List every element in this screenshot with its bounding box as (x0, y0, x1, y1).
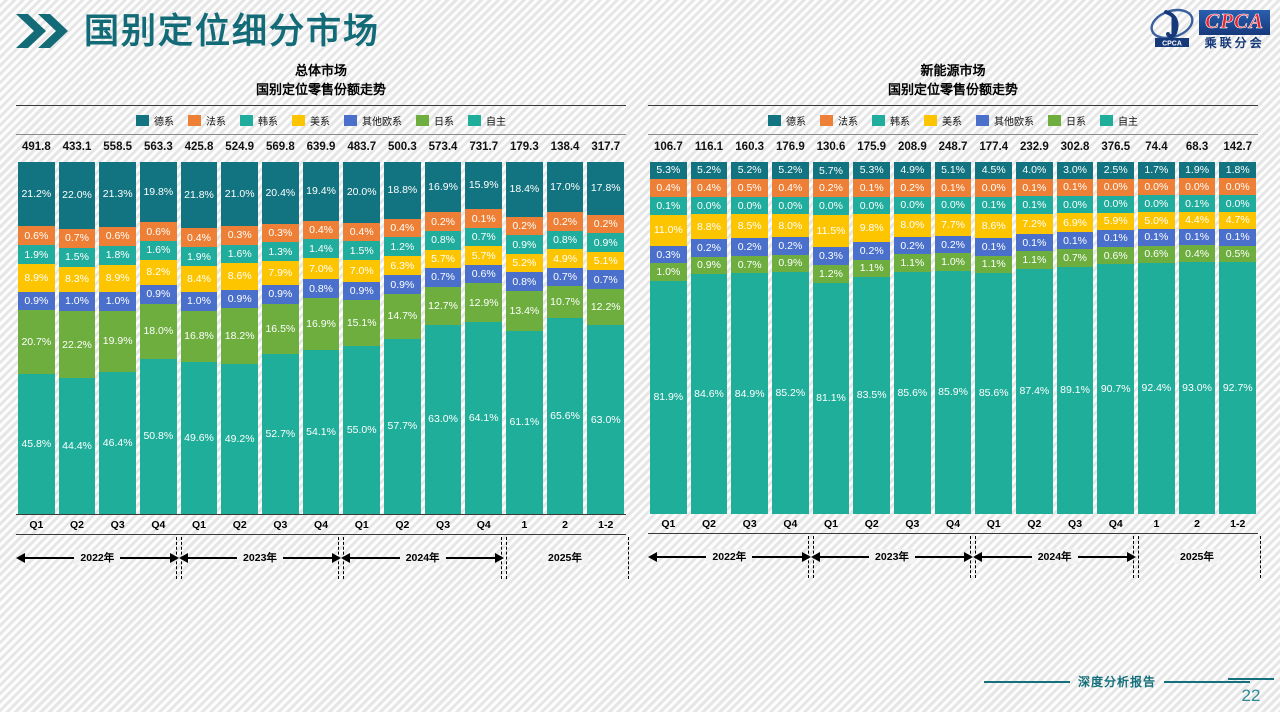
bar-segment[interactable]: 18.4% (506, 162, 543, 217)
bar-column[interactable]: 4.5%0.0%0.1%8.6%0.1%1.1%85.6% (975, 162, 1012, 514)
bar-segment[interactable]: 0.7% (425, 268, 462, 287)
bar-segment[interactable]: 8.9% (99, 265, 136, 292)
bar-segment[interactable]: 0.0% (691, 197, 728, 215)
bar-segment-label: 0.4% (697, 182, 721, 194)
bar-segment[interactable]: 1.0% (181, 292, 218, 311)
bar-segment[interactable]: 0.6% (1097, 247, 1134, 264)
bar-segment-label: 0.1% (1063, 181, 1087, 193)
bar-segment[interactable]: 0.4% (650, 179, 687, 197)
bar-segment[interactable]: 92.7% (1219, 262, 1256, 513)
bar-segment[interactable]: 20.4% (262, 162, 299, 224)
bar-segment[interactable]: 85.2% (772, 272, 809, 513)
bar-segment[interactable]: 49.6% (181, 362, 218, 514)
bar-segment[interactable]: 1.2% (813, 265, 850, 283)
bar-segment[interactable]: 55.0% (343, 346, 380, 513)
bar-column[interactable]: 5.1%0.1%0.0%7.7%0.2%1.0%85.9% (935, 162, 972, 514)
bar-segment[interactable]: 0.1% (935, 179, 972, 197)
bar-segment[interactable]: 4.9% (894, 162, 931, 180)
cpca-swoosh-logo-icon: CPCA (1149, 6, 1195, 53)
bar-segment[interactable]: 0.0% (1057, 196, 1094, 213)
bar-segment[interactable]: 61.1% (506, 331, 543, 514)
bar-segment[interactable]: 7.2% (1016, 214, 1053, 234)
bar-segment[interactable]: 1.0% (59, 292, 96, 311)
bar-segment[interactable]: 5.2% (731, 162, 768, 180)
total-value: 116.1 (689, 141, 730, 153)
legend-item[interactable]: 美系 (292, 113, 330, 128)
bar-column[interactable]: 17.8%0.2%0.9%5.1%0.7%12.2%63.0% (587, 162, 624, 514)
bar-segment[interactable]: 22.0% (59, 162, 96, 229)
bar-segment[interactable]: 4.4% (1179, 212, 1216, 229)
bar-segment[interactable]: 0.0% (1138, 195, 1175, 212)
bar-segment[interactable]: 0.2% (935, 236, 972, 254)
x-axis-label: Q2 (1014, 518, 1055, 530)
bar-segment[interactable]: 0.2% (506, 217, 543, 236)
bar-segment[interactable]: 45.8% (18, 374, 55, 514)
bar-segment-label: 4.4% (1185, 214, 1209, 226)
bar-segment[interactable]: 0.0% (1219, 178, 1256, 195)
legend-item[interactable]: 韩系 (872, 113, 910, 128)
bar-segment[interactable]: 21.3% (99, 162, 136, 227)
bar-segment[interactable]: 0.2% (813, 179, 850, 197)
bar-segment[interactable]: 0.8% (303, 279, 340, 298)
bar-column[interactable]: 4.9%0.2%0.0%8.0%0.2%1.1%85.6% (894, 162, 931, 514)
bar-segment[interactable]: 0.5% (1219, 246, 1256, 263)
bar-segment[interactable]: 1.6% (140, 241, 177, 260)
bar-segment[interactable]: 6.3% (384, 256, 421, 275)
bar-segment-label: 0.8% (309, 283, 333, 295)
legend-item[interactable]: 自主 (468, 113, 506, 128)
bar-segment[interactable]: 18.0% (140, 304, 177, 359)
bar-segment[interactable]: 18.8% (384, 162, 421, 219)
bar-segment[interactable]: 65.6% (547, 318, 584, 514)
x-axis-label: Q1 (341, 519, 382, 531)
legend-item[interactable]: 德系 (768, 113, 806, 128)
arrow-left-icon (811, 552, 820, 562)
bar-segment[interactable]: 0.0% (1097, 196, 1134, 213)
bar-segment[interactable]: 0.9% (506, 235, 543, 254)
bar-segment[interactable]: 0.2% (772, 237, 809, 255)
bar-segment[interactable]: 0.7% (1057, 249, 1094, 266)
bar-segment[interactable]: 0.8% (425, 231, 462, 250)
legend-item[interactable]: 美系 (924, 113, 962, 128)
bar-segment[interactable]: 0.4% (772, 179, 809, 197)
bar-segment[interactable]: 90.7% (1097, 264, 1134, 514)
bar-column[interactable]: 4.0%0.1%0.1%7.2%0.1%1.1%87.4% (1016, 162, 1053, 514)
bar-segment[interactable]: 5.2% (772, 162, 809, 180)
bar-segment[interactable]: 16.9% (303, 298, 340, 349)
bar-segment-label: 1.9% (187, 251, 211, 263)
bar-segment[interactable]: 0.1% (1179, 195, 1216, 212)
bar-segment[interactable]: 2.5% (1097, 162, 1134, 179)
bar-segment[interactable]: 0.7% (547, 268, 584, 286)
bar-segment[interactable]: 85.9% (935, 271, 972, 514)
bar-segment[interactable]: 1.6% (221, 245, 258, 264)
bar-segment-label: 8.0% (900, 219, 924, 231)
bar-segment[interactable]: 0.2% (853, 242, 890, 260)
bar-column[interactable]: 22.0%0.7%1.5%8.3%1.0%22.2%44.4% (59, 162, 96, 514)
bar-segment[interactable]: 19.4% (303, 162, 340, 221)
bar-segment[interactable]: 0.0% (1219, 195, 1256, 212)
bar-segment[interactable]: 13.4% (506, 291, 543, 331)
bar-segment[interactable]: 52.7% (262, 354, 299, 514)
bar-segment[interactable]: 0.7% (587, 270, 624, 289)
bar-segment[interactable]: 0.9% (691, 257, 728, 275)
bar-column[interactable]: 3.0%0.1%0.0%6.9%0.1%0.7%89.1% (1057, 162, 1094, 514)
bar-segment[interactable]: 0.1% (1057, 179, 1094, 196)
bar-segment[interactable]: 0.9% (140, 285, 177, 304)
bar-segment[interactable]: 5.7% (425, 250, 462, 269)
bar-segment[interactable]: 7.0% (303, 258, 340, 279)
bar-segment[interactable]: 0.1% (853, 179, 890, 197)
bar-segment[interactable]: 0.0% (975, 179, 1012, 196)
bar-segment[interactable]: 0.9% (587, 233, 624, 252)
bar-segment[interactable]: 3.0% (1057, 162, 1094, 179)
bar-segment-label: 19.9% (103, 335, 133, 347)
total-value: 569.8 (260, 141, 301, 153)
bar-segment[interactable]: 16.5% (262, 304, 299, 354)
bar-segment[interactable]: 81.9% (650, 281, 687, 514)
bar-column[interactable]: 19.4%0.4%1.4%7.0%0.8%16.9%54.1% (303, 162, 340, 514)
legend-label: 德系 (786, 113, 806, 128)
bar-segment-label: 19.4% (306, 185, 336, 197)
bar-segment[interactable]: 1.8% (1219, 162, 1256, 179)
bar-segment[interactable]: 87.4% (1016, 269, 1053, 514)
bar-segment[interactable]: 0.5% (731, 179, 768, 197)
bar-segment[interactable]: 9.8% (853, 214, 890, 242)
bar-segment[interactable]: 21.8% (181, 162, 218, 229)
bar-segment-label: 1.4% (309, 243, 333, 255)
bar-segment[interactable]: 0.0% (772, 197, 809, 215)
bar-segment[interactable]: 0.9% (384, 275, 421, 294)
bar-segment[interactable]: 0.1% (465, 209, 502, 228)
bar-segment[interactable]: 1.1% (1016, 251, 1053, 268)
legend-item[interactable]: 其他欧系 (976, 113, 1034, 128)
bar-segment-label: 0.4% (778, 182, 802, 194)
bar-segment[interactable]: 63.0% (587, 325, 624, 513)
bar-segment[interactable]: 6.9% (1057, 213, 1094, 232)
bar-column[interactable]: 2.5%0.0%0.0%5.9%0.1%0.6%90.7% (1097, 162, 1134, 514)
bar-segment[interactable]: 0.4% (181, 228, 218, 247)
bar-segment[interactable]: 1.5% (59, 248, 96, 267)
bar-segment[interactable]: 8.4% (181, 266, 218, 292)
bar-segment[interactable]: 5.3% (650, 162, 687, 180)
bar-column[interactable]: 16.9%0.2%0.8%5.7%0.7%12.7%63.0% (425, 162, 462, 514)
bar-segment[interactable]: 1.9% (1179, 162, 1216, 179)
bar-segment[interactable]: 21.2% (18, 162, 55, 227)
bar-segment[interactable]: 0.3% (650, 246, 687, 264)
bar-segment[interactable]: 8.2% (140, 260, 177, 285)
bar-segment[interactable]: 0.3% (221, 226, 258, 245)
bar-segment[interactable]: 8.0% (894, 214, 931, 237)
bar-segment[interactable]: 0.3% (262, 224, 299, 243)
bar-segment[interactable]: 0.8% (547, 231, 584, 249)
bar-segment-label: 57.7% (387, 420, 417, 432)
bar-segment[interactable]: 1.1% (975, 256, 1012, 273)
bar-column[interactable]: 20.0%0.4%1.5%7.0%0.9%15.1%55.0% (343, 162, 380, 514)
bar-segment[interactable]: 8.9% (18, 264, 55, 291)
bar-segment[interactable]: 7.9% (262, 261, 299, 285)
legend-swatch-icon (924, 115, 937, 126)
bar-segment[interactable]: 0.0% (1179, 178, 1216, 195)
legend-item[interactable]: 韩系 (240, 113, 278, 128)
bar-segment[interactable]: 1.1% (853, 260, 890, 278)
bar-column[interactable]: 5.3%0.1%0.0%9.8%0.2%1.1%83.5% (853, 162, 890, 514)
bar-segment[interactable]: 17.0% (547, 162, 584, 213)
bar-segment[interactable]: 8.8% (691, 214, 728, 239)
bar-segment[interactable]: 18.2% (221, 308, 258, 363)
bar-segment[interactable]: 0.2% (731, 238, 768, 256)
bar-segment[interactable]: 15.9% (465, 162, 502, 210)
bar-segment[interactable]: 0.1% (975, 238, 1012, 255)
bar-segment[interactable]: 5.3% (853, 162, 890, 180)
bar-segment[interactable]: 0.1% (1057, 232, 1094, 249)
bar-segment[interactable]: 1.7% (1138, 162, 1175, 179)
bar-column[interactable]: 21.8%0.4%1.9%8.4%1.0%16.8%49.6% (181, 162, 218, 514)
chart-legend-overall: 德系法系韩系美系其他欧系日系自主 (16, 106, 626, 134)
bar-segment[interactable]: 63.0% (425, 325, 462, 514)
bar-segment[interactable]: 8.6% (975, 214, 1012, 238)
bar-column[interactable]: 5.2%0.4%0.0%8.8%0.2%0.9%84.6% (691, 162, 728, 514)
bar-segment[interactable]: 17.8% (587, 162, 624, 215)
bar-segment[interactable]: 0.2% (691, 239, 728, 257)
bar-segment[interactable]: 0.1% (1016, 196, 1053, 213)
bar-segment-label: 10.7% (550, 296, 580, 308)
bar-segment[interactable]: 44.4% (59, 378, 96, 513)
bar-column[interactable]: 21.3%0.6%1.8%8.9%1.0%19.9%46.4% (99, 162, 136, 514)
bar-segment[interactable]: 89.1% (1057, 267, 1094, 514)
bar-segment-label: 1.9% (24, 249, 48, 261)
bar-segment[interactable]: 0.1% (650, 197, 687, 215)
page-title: 国别定位细分市场 (84, 14, 380, 49)
bar-segment[interactable]: 19.8% (140, 162, 177, 222)
bar-segment[interactable]: 4.9% (547, 249, 584, 267)
bar-segment[interactable]: 10.7% (547, 286, 584, 318)
bar-segment[interactable]: 8.5% (731, 214, 768, 238)
bar-segment[interactable]: 0.7% (731, 256, 768, 274)
bar-segment-label: 92.4% (1142, 382, 1172, 394)
bar-column[interactable]: 18.8%0.4%1.2%6.3%0.9%14.7%57.7% (384, 162, 421, 514)
bar-segment[interactable]: 20.7% (18, 310, 55, 373)
bar-segment[interactable]: 0.1% (1016, 234, 1053, 251)
bar-segment[interactable]: 64.1% (465, 322, 502, 514)
bar-segment[interactable]: 1.8% (99, 246, 136, 265)
bar-segment[interactable]: 0.4% (691, 179, 728, 197)
bar-segment[interactable]: 11.5% (813, 215, 850, 248)
bar-segment[interactable]: 0.9% (18, 292, 55, 311)
bar-segment[interactable]: 0.1% (1138, 229, 1175, 246)
bar-segment[interactable]: 0.1% (1097, 230, 1134, 247)
bar-segment[interactable]: 0.4% (343, 223, 380, 242)
bar-column[interactable]: 1.8%0.0%0.0%4.7%0.1%0.5%92.7% (1219, 162, 1256, 514)
bar-column[interactable]: 20.4%0.3%1.3%7.9%0.9%16.5%52.7% (262, 162, 299, 514)
legend-item[interactable]: 日系 (416, 113, 454, 128)
bar-segment[interactable]: 0.2% (894, 179, 931, 197)
bar-segment[interactable]: 0.2% (547, 212, 584, 230)
bar-segment[interactable]: 4.7% (1219, 212, 1256, 229)
bar-segment[interactable]: 0.8% (506, 272, 543, 291)
bar-segment[interactable]: 1.3% (262, 242, 299, 261)
arrow-left-icon (179, 553, 188, 563)
bar-segment[interactable]: 5.2% (691, 162, 728, 180)
bar-segment[interactable]: 0.7% (59, 229, 96, 248)
bar-segment[interactable]: 0.2% (425, 212, 462, 231)
bar-segment[interactable]: 0.9% (262, 285, 299, 304)
bar-segment[interactable]: 0.0% (894, 197, 931, 215)
bar-segment[interactable]: 0.7% (465, 228, 502, 247)
total-value: 142.7 (1217, 141, 1258, 153)
bar-segment[interactable]: 0.1% (1219, 229, 1256, 246)
bar-segment[interactable]: 5.7% (813, 162, 850, 180)
bar-segment[interactable]: 21.0% (221, 162, 258, 226)
bar-segment[interactable]: 0.2% (894, 237, 931, 255)
bar-segment[interactable]: 5.1% (587, 252, 624, 271)
bar-segment[interactable]: 16.9% (425, 162, 462, 213)
bar-segment[interactable]: 1.9% (18, 245, 55, 264)
bar-segment[interactable]: 15.1% (343, 300, 380, 346)
legend-swatch-icon (240, 115, 253, 126)
bar-segment[interactable]: 54.1% (303, 350, 340, 514)
bar-segment[interactable]: 0.0% (935, 197, 972, 215)
bar-segment[interactable]: 50.8% (140, 359, 177, 514)
bar-segment[interactable]: 8.6% (221, 263, 258, 289)
bar-segment-label: 0.9% (350, 285, 374, 297)
bar-column[interactable]: 15.9%0.1%0.7%5.7%0.6%12.9%64.1% (465, 162, 502, 514)
legend-item[interactable]: 自主 (1100, 113, 1138, 128)
legend-label: 美系 (942, 113, 962, 128)
legend-swatch-icon (872, 115, 885, 126)
bar-segment[interactable]: 84.6% (691, 274, 728, 513)
legend-item[interactable]: 法系 (188, 113, 226, 128)
bar-segment[interactable]: 0.1% (1179, 229, 1216, 246)
bar-segment[interactable]: 0.9% (221, 290, 258, 309)
bar-segment[interactable]: 5.0% (1138, 212, 1175, 229)
bar-segment[interactable]: 4.0% (1016, 162, 1053, 179)
bar-segment[interactable]: 5.1% (935, 162, 972, 180)
bar-segment[interactable]: 5.2% (506, 254, 543, 273)
bar-segment[interactable]: 0.0% (731, 197, 768, 215)
bar-segment[interactable]: 92.4% (1138, 263, 1175, 514)
bar-column[interactable]: 1.9%0.0%0.1%4.4%0.1%0.4%93.0% (1179, 162, 1216, 514)
bar-segment-label: 85.9% (938, 386, 968, 398)
bar-column[interactable]: 21.2%0.6%1.9%8.9%0.9%20.7%45.8% (18, 162, 55, 514)
bar-segment[interactable]: 83.5% (853, 277, 890, 513)
bar-segment[interactable]: 0.4% (303, 221, 340, 240)
bar-segment[interactable]: 0.1% (975, 197, 1012, 214)
bar-segment[interactable]: 0.4% (384, 219, 421, 238)
total-value: 74.4 (1136, 141, 1177, 153)
bar-segment[interactable]: 0.6% (1138, 246, 1175, 263)
bar-segment[interactable]: 8.0% (772, 214, 809, 237)
bar-segment[interactable]: 1.0% (935, 253, 972, 271)
total-value: 232.9 (1014, 141, 1055, 153)
bar-segment[interactable]: 49.2% (221, 364, 258, 514)
bar-segment[interactable]: 0.0% (1138, 179, 1175, 196)
bar-segment[interactable]: 57.7% (384, 339, 421, 514)
bar-segment[interactable]: 1.9% (181, 247, 218, 266)
bar-column[interactable]: 5.3%0.4%0.1%11.0%0.3%1.0%81.9% (650, 162, 687, 514)
bar-segment[interactable]: 12.7% (425, 287, 462, 325)
bar-column[interactable]: 19.8%0.6%1.6%8.2%0.9%18.0%50.8% (140, 162, 177, 514)
bar-segment[interactable]: 4.5% (975, 162, 1012, 179)
bar-segment[interactable]: 0.9% (772, 255, 809, 273)
bar-column[interactable]: 17.0%0.2%0.8%4.9%0.7%10.7%65.6% (547, 162, 584, 514)
bar-segment[interactable]: 1.2% (384, 237, 421, 256)
bar-segment[interactable]: 12.2% (587, 289, 624, 325)
bar-segment[interactable]: 0.2% (587, 215, 624, 234)
bar-segment[interactable]: 0.9% (343, 282, 380, 301)
bar-segment[interactable]: 7.7% (935, 214, 972, 236)
cpca-brand-subtext: 乘联分会 (1205, 37, 1265, 49)
bar-segment[interactable]: 84.9% (731, 273, 768, 513)
bar-segment[interactable]: 1.4% (303, 239, 340, 258)
stacked-bars-overall: 21.2%0.6%1.9%8.9%0.9%20.7%45.8%22.0%0.7%… (16, 159, 626, 514)
bar-segment-label: 63.0% (428, 413, 458, 425)
bar-segment[interactable]: 20.0% (343, 162, 380, 223)
bar-segment[interactable]: 8.3% (59, 267, 96, 292)
bar-segment[interactable]: 0.6% (99, 227, 136, 246)
bar-segment[interactable]: 46.4% (99, 372, 136, 514)
bar-column[interactable]: 5.2%0.5%0.0%8.5%0.2%0.7%84.9% (731, 162, 768, 514)
bar-column[interactable]: 1.7%0.0%0.0%5.0%0.1%0.6%92.4% (1138, 162, 1175, 514)
bar-segment[interactable]: 93.0% (1179, 262, 1216, 513)
bar-segment[interactable]: 0.6% (140, 222, 177, 241)
bar-segment-label: 0.4% (390, 222, 414, 234)
bar-segment[interactable]: 0.6% (18, 226, 55, 245)
bar-column[interactable]: 5.7%0.2%0.0%11.5%0.3%1.2%81.1% (813, 162, 850, 514)
bar-segment[interactable]: 19.9% (99, 311, 136, 372)
bar-segment[interactable]: 1.0% (650, 263, 687, 281)
bar-segment[interactable]: 0.4% (1179, 245, 1216, 262)
bar-segment[interactable]: 0.1% (1016, 179, 1053, 196)
chart-title-nev: 新能源市场 国别定位零售份额走势 (648, 62, 1258, 105)
bar-segment[interactable]: 85.6% (894, 272, 931, 514)
bar-segment-label: 1.1% (982, 258, 1006, 270)
bar-segment[interactable]: 81.1% (813, 283, 850, 514)
bar-segment[interactable]: 1.0% (99, 292, 136, 311)
bar-segment[interactable]: 12.9% (465, 283, 502, 322)
chart-legend-nev: 德系法系韩系美系其他欧系日系自主 (648, 106, 1258, 134)
bar-segment-label: 1.6% (228, 248, 252, 260)
bar-segment[interactable]: 0.0% (853, 197, 890, 215)
bar-segment[interactable]: 85.6% (975, 273, 1012, 514)
bar-segment[interactable]: 0.0% (1097, 179, 1134, 196)
bar-segment[interactable]: 5.9% (1097, 213, 1134, 230)
year-separator (1133, 536, 1134, 578)
legend-item[interactable]: 德系 (136, 113, 174, 128)
year-group: 2025年 (1136, 534, 1258, 580)
bar-segment[interactable]: 7.0% (343, 260, 380, 281)
bar-segment[interactable]: 0.3% (813, 247, 850, 265)
bar-segment[interactable]: 0.0% (813, 197, 850, 215)
bar-segment[interactable]: 5.7% (465, 246, 502, 265)
bar-column[interactable]: 5.2%0.4%0.0%8.0%0.2%0.9%85.2% (772, 162, 809, 514)
bar-segment-label: 5.2% (697, 164, 721, 176)
bar-segment[interactable]: 11.0% (650, 215, 687, 246)
legend-item[interactable]: 其他欧系 (344, 113, 402, 128)
bar-segment[interactable]: 1.1% (894, 254, 931, 272)
bar-column[interactable]: 18.4%0.2%0.9%5.2%0.8%13.4%61.1% (506, 162, 543, 514)
bar-segment[interactable]: 14.7% (384, 294, 421, 339)
bar-segment[interactable]: 16.8% (181, 311, 218, 362)
bar-column[interactable]: 21.0%0.3%1.6%8.6%0.9%18.2%49.2% (221, 162, 258, 514)
bar-segment[interactable]: 0.6% (465, 265, 502, 284)
legend-item[interactable]: 日系 (1048, 113, 1086, 128)
bar-segment[interactable]: 22.2% (59, 311, 96, 379)
legend-item[interactable]: 法系 (820, 113, 858, 128)
bar-segment[interactable]: 1.5% (343, 241, 380, 260)
bar-segment-label: 0.3% (228, 229, 252, 241)
x-axis-label: Q4 (933, 518, 974, 530)
